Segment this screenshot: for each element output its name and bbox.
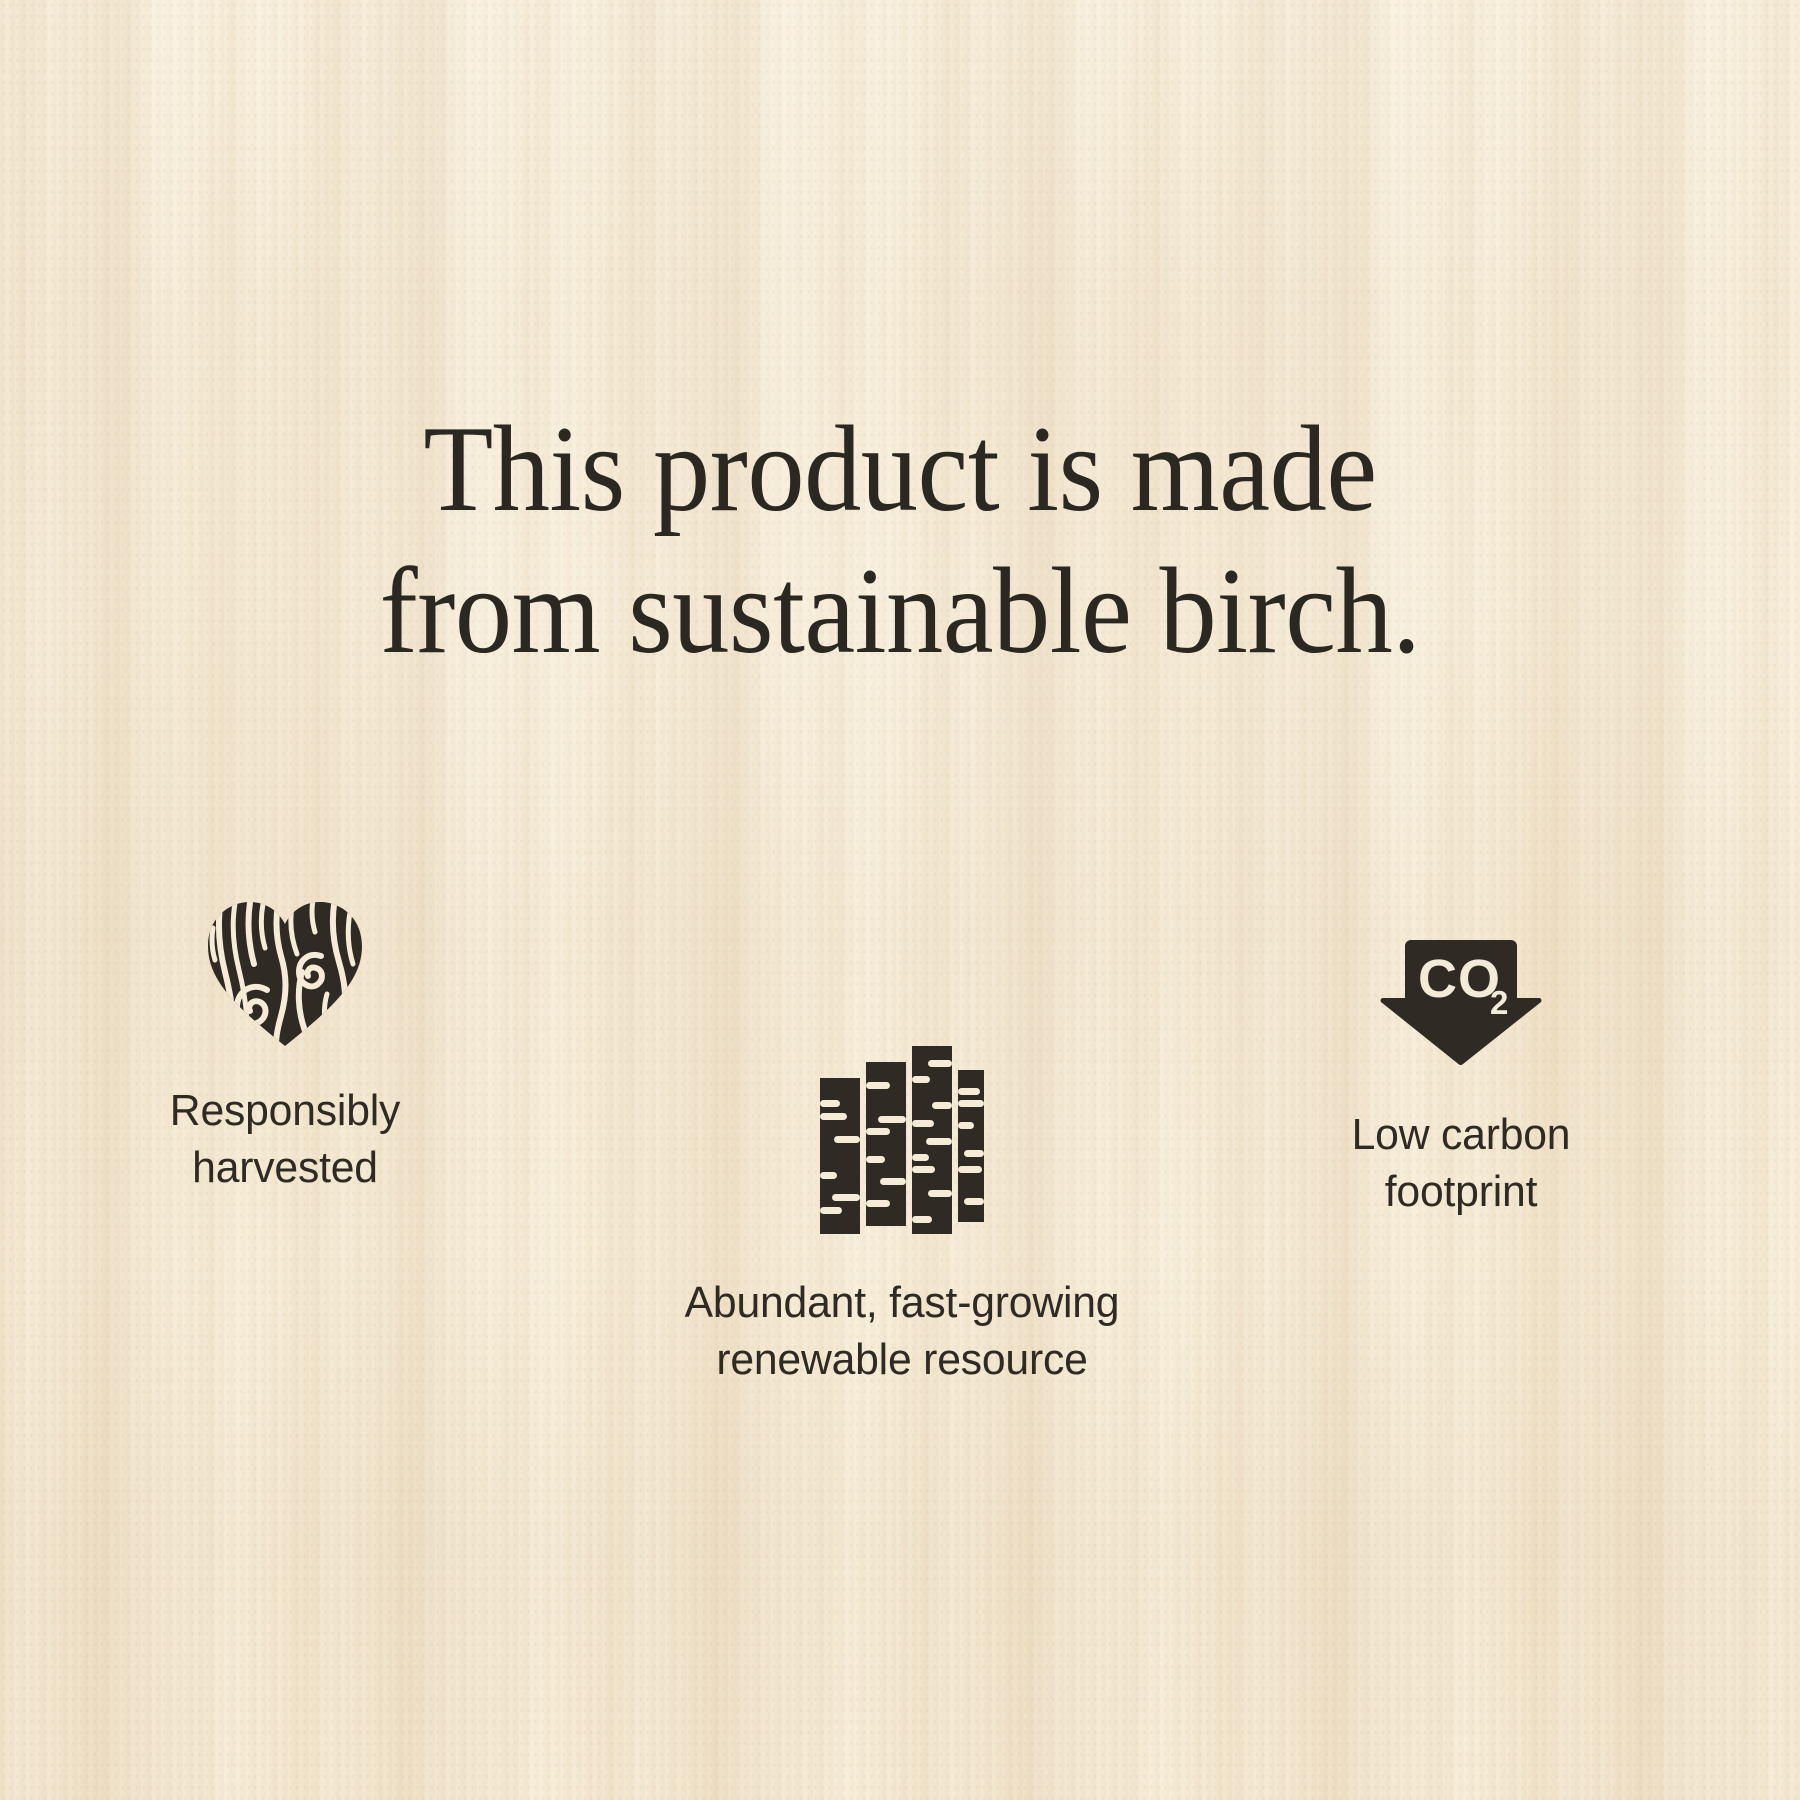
co2-label: CO	[1418, 949, 1501, 1009]
icon-container	[626, 1038, 1178, 1236]
icon-container: CO 2	[1266, 920, 1656, 1068]
wood-grain-heart-icon	[205, 898, 365, 1050]
birch-trunks-icon	[818, 1044, 986, 1236]
feature-responsibly-harvested: Responsibly harvested	[90, 890, 480, 1196]
feature-caption: Low carbon footprint	[1272, 1106, 1650, 1220]
co2-subscript: 2	[1490, 984, 1508, 1021]
feature-caption: Responsibly harvested	[96, 1082, 474, 1196]
poster-canvas: This product is made from sustainable bi…	[0, 0, 1800, 1800]
co2-down-arrow-icon: CO 2	[1377, 934, 1545, 1068]
poster-content: This product is made from sustainable bi…	[0, 0, 1800, 1800]
feature-low-carbon-footprint: CO 2 Low carbon footprint	[1266, 920, 1656, 1220]
page-title: This product is made from sustainable bi…	[63, 398, 1737, 682]
feature-caption: Abundant, fast-growing renewable resourc…	[634, 1274, 1169, 1388]
icon-container	[90, 890, 480, 1050]
feature-abundant-renewable: Abundant, fast-growing renewable resourc…	[626, 1038, 1178, 1388]
